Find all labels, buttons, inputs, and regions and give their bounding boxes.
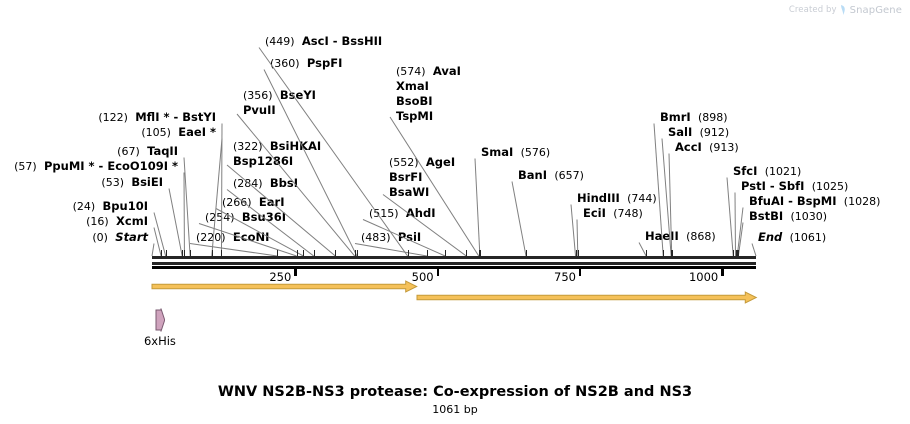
- 6xhis-arrow-icon: [155, 308, 165, 332]
- sequence-length: 1061 bp: [0, 403, 910, 416]
- cut-site-tick: [427, 250, 428, 257]
- cut-site-tick: [576, 250, 577, 257]
- leader-line: [227, 165, 335, 256]
- cut-site-tick: [212, 250, 213, 257]
- leader-line: [221, 124, 222, 257]
- leader-line: [512, 182, 526, 257]
- leader-line: [169, 189, 182, 257]
- cut-site-tick: [314, 250, 315, 257]
- cut-site-tick: [182, 250, 183, 257]
- leader-line: [152, 244, 154, 257]
- plasmid-map-canvas: Created by SnapGene (0) Start(16) XcmI(2…: [0, 0, 910, 424]
- leader-line: [752, 244, 756, 257]
- cut-site-tick: [221, 250, 222, 257]
- cut-site-tick: [335, 250, 336, 257]
- leader-line: [475, 159, 480, 257]
- cut-site-tick: [277, 250, 278, 257]
- cut-site-tick: [480, 250, 481, 257]
- leader-line: [355, 244, 427, 257]
- cut-site-tick: [408, 250, 409, 257]
- cut-site-tick: [526, 250, 527, 257]
- ruler-tick: [294, 268, 297, 276]
- cut-site-tick: [161, 250, 162, 257]
- cut-site-tick: [357, 250, 358, 257]
- feature-arrow-ns2b[interactable]: [152, 281, 417, 292]
- leader-line: [654, 124, 663, 257]
- dna-strand-top: [152, 256, 756, 259]
- cut-site-tick: [738, 250, 739, 257]
- cut-site-tick: [445, 250, 446, 257]
- page-title: WNV NS2B-NS3 protease: Co-expression of …: [0, 384, 910, 400]
- cut-site-tick: [578, 250, 579, 257]
- leader-line: [735, 193, 736, 257]
- cut-site-tick: [355, 250, 356, 257]
- map-title-block: WNV NS2B-NS3 protease: Co-expression of …: [0, 384, 910, 416]
- cut-site-tick: [663, 250, 664, 257]
- ruler-tick-label: 1000: [689, 270, 721, 284]
- cut-site-tick: [297, 250, 298, 257]
- cut-site-tick: [303, 250, 304, 257]
- feature-arrow-ns3[interactable]: [417, 292, 756, 303]
- ruler-baseline: [152, 266, 756, 269]
- ruler-tick: [437, 268, 440, 276]
- leader-line: [237, 114, 355, 256]
- cut-site-tick: [733, 250, 734, 257]
- ruler-tick-label: 750: [554, 270, 579, 284]
- feature-6xhis[interactable]: 6xHis: [155, 308, 165, 332]
- cut-site-tick: [166, 250, 167, 257]
- leader-line: [390, 117, 479, 256]
- cut-site-tick: [466, 250, 467, 257]
- leader-line: [259, 48, 408, 257]
- leader-line: [571, 205, 576, 257]
- leader-line: [639, 243, 646, 257]
- leader-line: [154, 228, 161, 257]
- cut-site-tick: [190, 250, 191, 257]
- leader-line: [227, 190, 314, 257]
- leader-line: [727, 178, 733, 257]
- ruler-tick: [579, 268, 582, 276]
- cut-site-tick: [672, 250, 673, 257]
- cut-site-tick: [646, 250, 647, 257]
- 6xhis-label: 6xHis: [144, 334, 176, 348]
- dna-strand-bottom: [152, 262, 756, 265]
- cut-site-tick: [184, 250, 185, 257]
- leader-lines: [0, 0, 910, 424]
- ruler-tick: [721, 268, 724, 276]
- leader-line: [184, 158, 190, 257]
- leader-line: [212, 139, 222, 257]
